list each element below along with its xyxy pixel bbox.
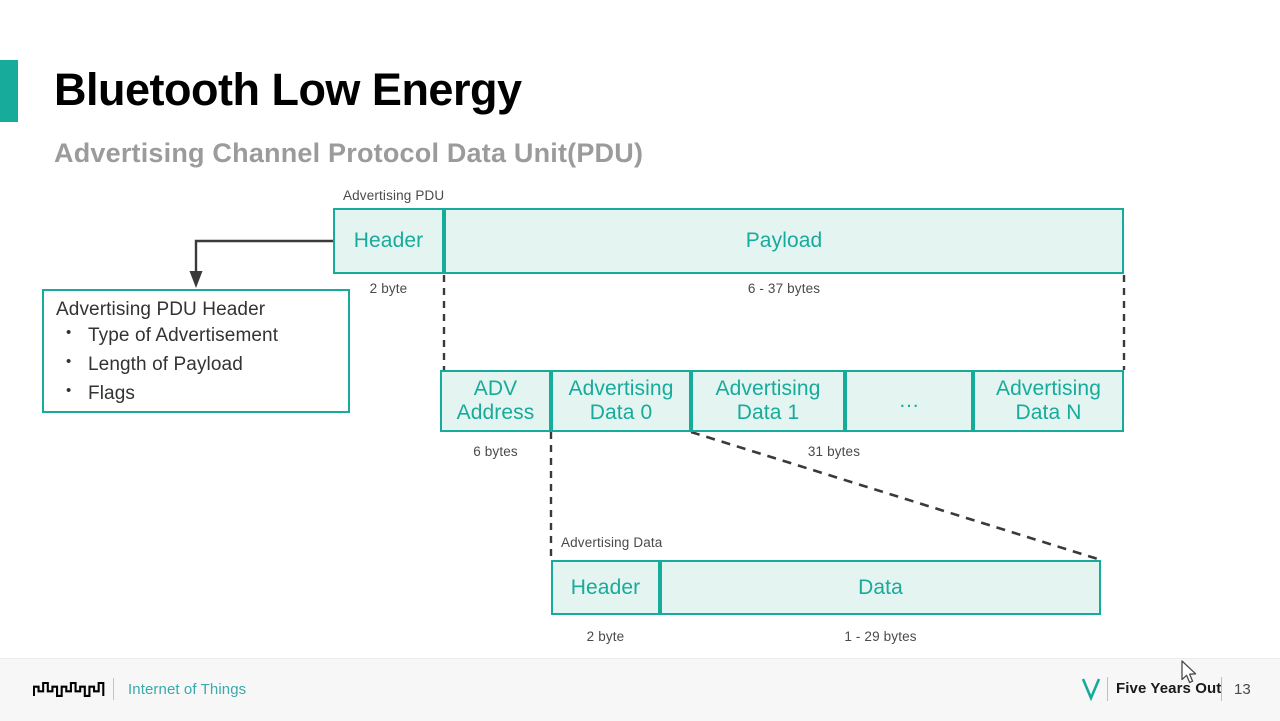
- page-title: Bluetooth Low Energy: [54, 66, 522, 113]
- pdu-header-cell[interactable]: Header: [333, 208, 444, 274]
- footer-divider: [113, 678, 114, 700]
- advertising-data-caption: Advertising Data: [561, 535, 662, 550]
- adv-address-cell[interactable]: ADV Address: [440, 370, 551, 432]
- title-accent-bar: [0, 60, 18, 122]
- advertising-data-n-cell[interactable]: Advertising Data N: [973, 370, 1124, 432]
- advertising-data-data-cell[interactable]: Data: [660, 560, 1101, 615]
- advertising-data-0-line1: Advertising: [569, 377, 674, 401]
- arrow-logo: [33, 679, 107, 699]
- advertising-data-1-cell[interactable]: Advertising Data 1: [691, 370, 845, 432]
- adv-address-line2: Address: [457, 401, 535, 425]
- ellipsis-icon: …: [898, 389, 919, 413]
- adv-address-line1: ADV: [474, 377, 517, 401]
- five-years-out-text: Five Years Out: [1116, 680, 1221, 697]
- advertising-data-0-cell[interactable]: Advertising Data 0: [551, 370, 691, 432]
- pdu-payload-size: 6 - 37 bytes: [444, 281, 1124, 296]
- advertising-data-ellipsis-cell: …: [845, 370, 973, 432]
- footer-tagline: Internet of Things: [128, 681, 246, 698]
- advertising-data-1-line1: Advertising: [716, 377, 821, 401]
- advertising-data-1-line2: Data 1: [737, 401, 799, 425]
- mouse-cursor: [1181, 660, 1199, 686]
- advertising-pdu-caption: Advertising PDU: [343, 188, 444, 203]
- advertising-data-0-line2: Data 0: [590, 401, 652, 425]
- advertising-data-n-line1: Advertising: [996, 377, 1101, 401]
- pdu-payload-cell[interactable]: Payload: [444, 208, 1124, 274]
- adv-address-size: 6 bytes: [440, 444, 551, 459]
- advertising-data-data-size: 1 - 29 bytes: [660, 629, 1101, 644]
- page-number: 13: [1234, 681, 1251, 698]
- callout-bullet-flags: Flags: [56, 380, 348, 409]
- callout-bullet-type: Type of Advertisement: [56, 322, 348, 351]
- advertising-pdu-header-callout: Advertising PDU Header Type of Advertise…: [42, 289, 350, 413]
- advertising-data-header-size: 2 byte: [551, 629, 660, 644]
- footer-divider: [1221, 677, 1222, 701]
- callout-bullet-length: Length of Payload: [56, 351, 348, 380]
- footer-divider: [1107, 677, 1108, 701]
- callout-title: Advertising PDU Header: [56, 299, 348, 321]
- advertising-data-n-line2: Data N: [1016, 401, 1082, 425]
- advertising-data-size: 31 bytes: [757, 444, 911, 459]
- page-subtitle: Advertising Channel Protocol Data Unit(P…: [54, 138, 643, 169]
- five-years-out-mark: [1081, 677, 1101, 701]
- header-callout-arrow: [190, 241, 334, 288]
- advertising-data-header-cell[interactable]: Header: [551, 560, 660, 615]
